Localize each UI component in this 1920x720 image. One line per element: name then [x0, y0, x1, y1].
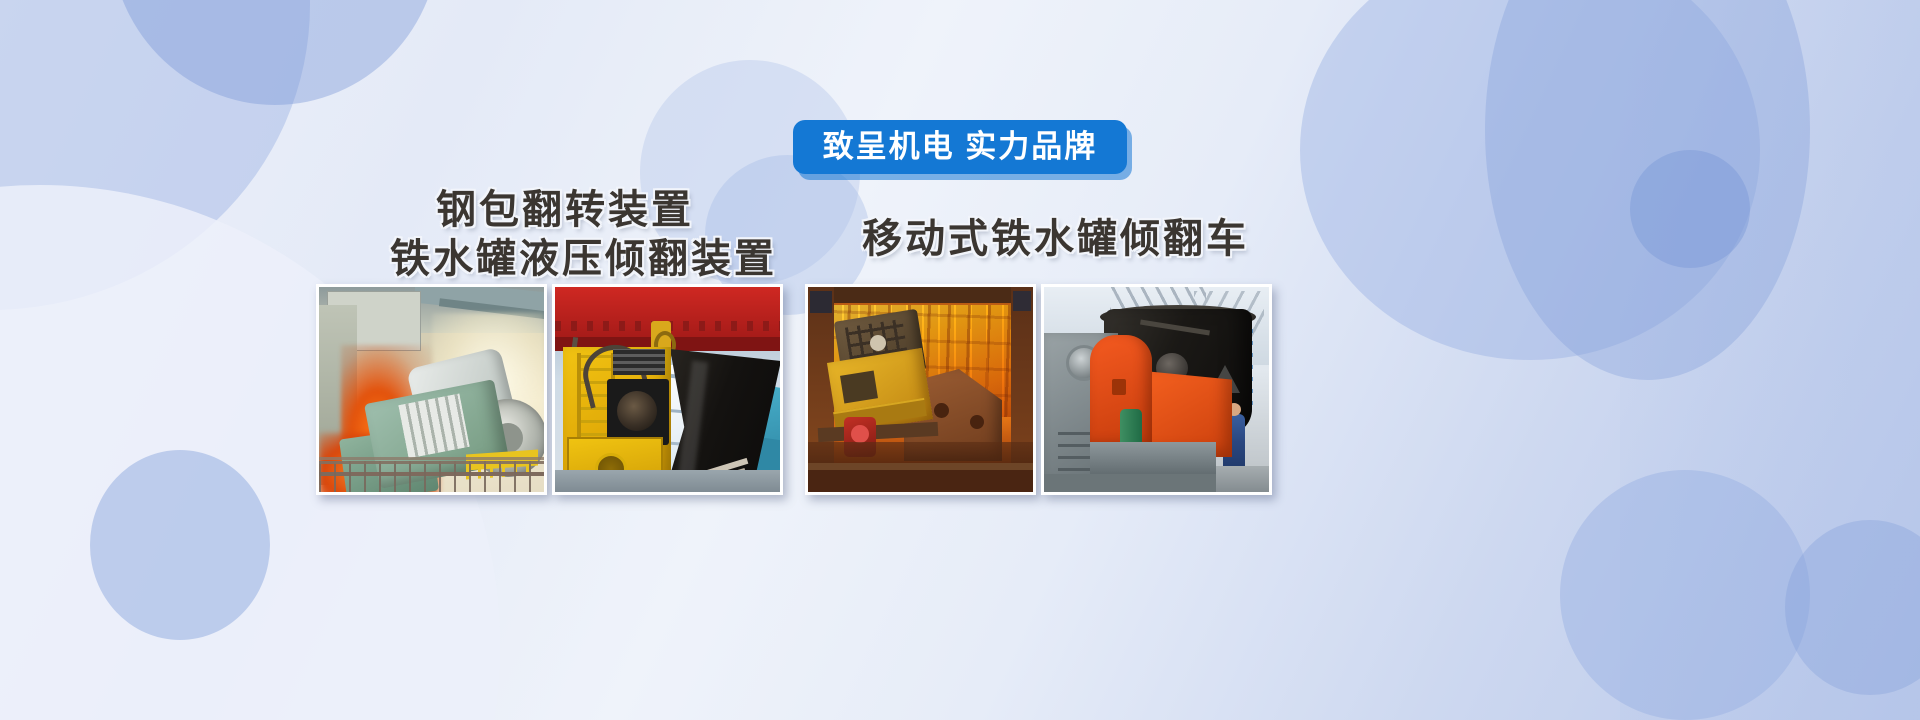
product-photo-ladle-tilting-mechanism[interactable] — [1041, 284, 1272, 495]
heading-right: 移动式铁水罐倾翻车 — [862, 215, 1249, 264]
photo-3-scene — [808, 287, 1033, 492]
product-photo-yellow-hydraulic-tilter[interactable] — [552, 284, 783, 495]
badge-row: 致呈机电 实力品牌 — [0, 120, 1920, 174]
product-photo-strip — [316, 284, 1272, 495]
photo-group-right — [805, 284, 1272, 495]
decor-circle-top-left-overlap — [110, 0, 440, 105]
product-photo-green-ladle-tipping-machine[interactable] — [316, 284, 547, 495]
heading-left-line-1: 钢包翻转装置 — [390, 186, 740, 235]
photo-group-left — [316, 284, 783, 495]
photo-4-scene — [1044, 287, 1269, 492]
photo-2-scene — [555, 287, 780, 492]
photo-1-scene — [319, 287, 544, 492]
brand-badge: 致呈机电 实力品牌 — [793, 120, 1128, 174]
promo-banner: 致呈机电 实力品牌 钢包翻转装置 铁水罐液压倾翻装置 移动式铁水罐倾翻车 — [0, 0, 1920, 720]
product-photo-furnace-tilting-car[interactable] — [805, 284, 1036, 495]
heading-left-line-2: 铁水罐液压倾翻装置 — [390, 235, 740, 284]
decor-gradient-band-right — [1620, 0, 1920, 720]
heading-left-group: 钢包翻转装置 铁水罐液压倾翻装置 — [390, 186, 740, 284]
